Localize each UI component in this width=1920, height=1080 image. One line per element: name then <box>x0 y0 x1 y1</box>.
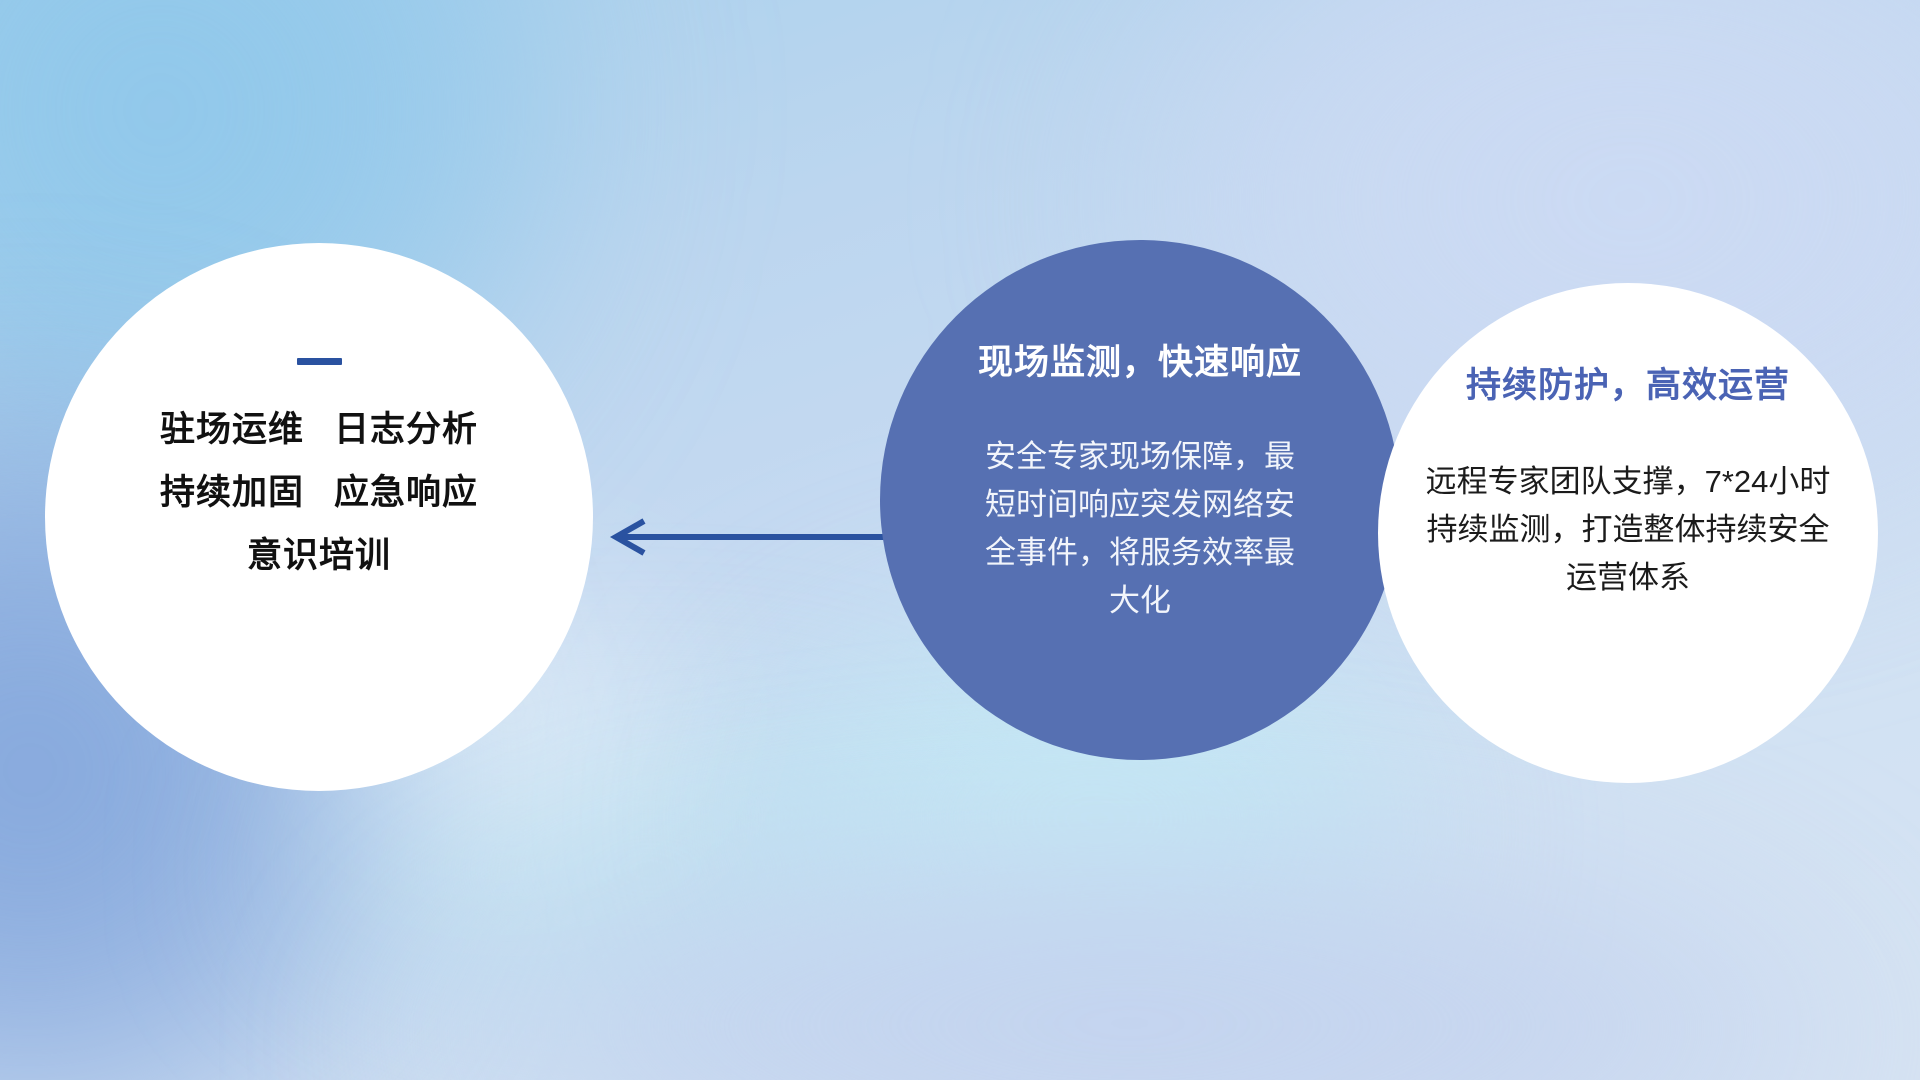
capabilities-circle: 驻场运维日志分析 持续加固应急响应 意识培训 <box>45 243 593 791</box>
flow-arrow-left-icon <box>600 515 890 559</box>
continuous-protection-body: 远程专家团队支撑，7*24小时持续监测，打造整体持续安全运营体系 <box>1423 458 1833 602</box>
capability-awareness-training: 意识培训 <box>247 536 391 575</box>
slide-canvas: 驻场运维日志分析 持续加固应急响应 意识培训 现场监测，快速响应 安全专家现场保… <box>0 0 1920 1080</box>
divider-dash-icon <box>297 358 342 365</box>
onsite-monitoring-heading: 现场监测，快速响应 <box>978 345 1302 380</box>
onsite-monitoring-body: 安全专家现场保障，最短时间响应突发网络安全事件，将服务效率最大化 <box>975 433 1305 625</box>
capabilities-row-3: 意识培训 <box>247 538 391 573</box>
capability-onsite-ops: 驻场运维 <box>160 410 304 449</box>
continuous-protection-heading: 持续防护，高效运营 <box>1466 368 1790 403</box>
capabilities-row-2: 持续加固应急响应 <box>160 475 478 510</box>
capabilities-row-1: 驻场运维日志分析 <box>160 412 478 447</box>
continuous-protection-circle: 持续防护，高效运营 远程专家团队支撑，7*24小时持续监测，打造整体持续安全运营… <box>1378 283 1878 783</box>
onsite-monitoring-circle: 现场监测，快速响应 安全专家现场保障，最短时间响应突发网络安全事件，将服务效率最… <box>880 240 1400 760</box>
capability-emergency-response: 应急响应 <box>334 473 478 512</box>
capability-continuous-hardening: 持续加固 <box>160 473 304 512</box>
capability-log-analysis: 日志分析 <box>334 410 478 449</box>
capabilities-list: 驻场运维日志分析 持续加固应急响应 意识培训 <box>160 412 478 573</box>
